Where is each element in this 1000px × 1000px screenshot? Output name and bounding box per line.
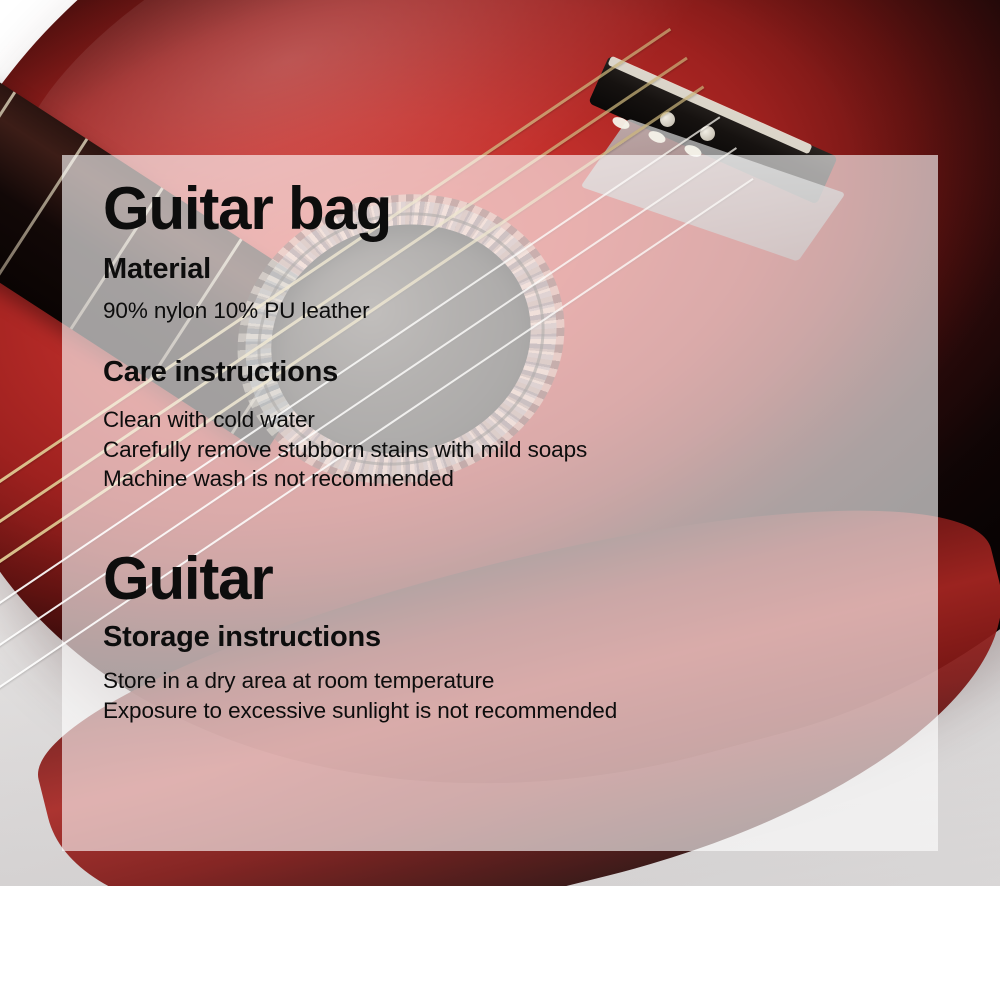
care-line: Machine wash is not recommended [103,464,923,494]
heading-storage-instructions: Storage instructions [103,621,923,654]
care-line: Clean with cold water [103,405,923,435]
section-title-guitar-bag: Guitar bag [103,178,923,239]
card-content: Guitar bag Material 90% nylon 10% PU lea… [103,178,923,726]
heading-care-instructions: Care instructions [103,356,923,389]
section-title-guitar: Guitar [103,548,923,609]
storage-line: Exposure to excessive sunlight is not re… [103,696,923,726]
product-info-card: Guitar bag Material 90% nylon 10% PU lea… [0,0,1000,1000]
care-line: Carefully remove stubborn stains with mi… [103,435,923,465]
storage-line: Store in a dry area at room temperature [103,666,923,696]
heading-material: Material [103,253,923,286]
material-line: 90% nylon 10% PU leather [103,296,923,326]
